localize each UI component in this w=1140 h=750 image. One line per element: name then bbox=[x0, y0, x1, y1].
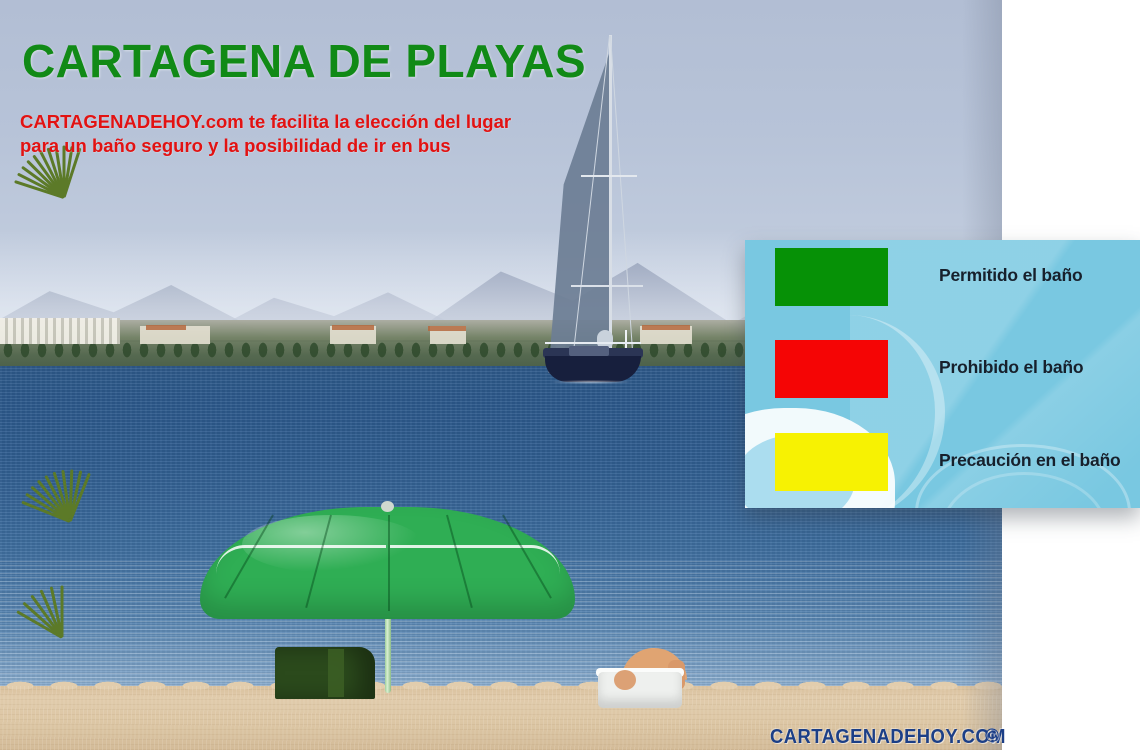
watermark-text: CARTAGENADEHOY.COM bbox=[770, 726, 1006, 749]
legend-label-prohibido: Prohibido el baño bbox=[939, 357, 1083, 378]
legend-item-permitido[interactable]: Permitido el baño bbox=[775, 248, 1125, 310]
sailboat-rail bbox=[545, 342, 641, 344]
town-roof-c bbox=[428, 326, 466, 331]
legend-item-prohibido[interactable]: Prohibido el baño bbox=[775, 340, 1125, 402]
page-subtitle-line1: CARTAGENADEHOY.com te facilita la elecci… bbox=[20, 110, 511, 134]
beach-towel-fold bbox=[328, 649, 344, 697]
page-subtitle: CARTAGENADEHOY.com te facilita la elecci… bbox=[20, 110, 511, 158]
town-roof-b bbox=[332, 325, 374, 330]
umbrella-rib-3 bbox=[388, 515, 390, 611]
umbrella-finial bbox=[381, 501, 394, 512]
sailboat-wake bbox=[531, 380, 651, 385]
distant-hotel-building bbox=[0, 318, 120, 344]
legend-swatch-red bbox=[775, 340, 888, 398]
beach-umbrella bbox=[200, 495, 575, 675]
page-subtitle-line2: para un baño seguro y la posibilidad de … bbox=[20, 134, 511, 158]
legend-item-precaucion[interactable]: Precaución en el baño bbox=[775, 433, 1125, 495]
sailboat-spreader-lower bbox=[571, 285, 643, 287]
cooler-box bbox=[598, 672, 682, 708]
legend-swatch-yellow bbox=[775, 433, 888, 491]
legend-label-permitido: Permitido el baño bbox=[939, 265, 1082, 286]
town-roof-a bbox=[146, 325, 186, 330]
page-title: CARTAGENA DE PLAYAS bbox=[22, 34, 586, 88]
legend-label-precaucion: Precaución en el baño bbox=[939, 450, 1121, 471]
town-roof-d bbox=[642, 325, 690, 330]
sailboat-mast bbox=[609, 35, 612, 365]
sailboat-backstay bbox=[610, 36, 633, 355]
beach-flag-legend: Permitido el baño Prohibido el baño Prec… bbox=[745, 240, 1140, 508]
sailboat-cockpit bbox=[569, 346, 609, 356]
person-head bbox=[614, 670, 636, 690]
sailboat-hull bbox=[545, 356, 641, 382]
beach-towel bbox=[275, 647, 375, 699]
legend-swatch-green bbox=[775, 248, 888, 306]
sailboat-spreader-upper bbox=[581, 175, 637, 177]
watermark-copyright-icon: © bbox=[985, 726, 999, 748]
poster-canvas: CARTAGENA DE PLAYAS CARTAGENADEHOY.com t… bbox=[0, 0, 1140, 750]
sailboat-bowsprit bbox=[625, 330, 627, 348]
